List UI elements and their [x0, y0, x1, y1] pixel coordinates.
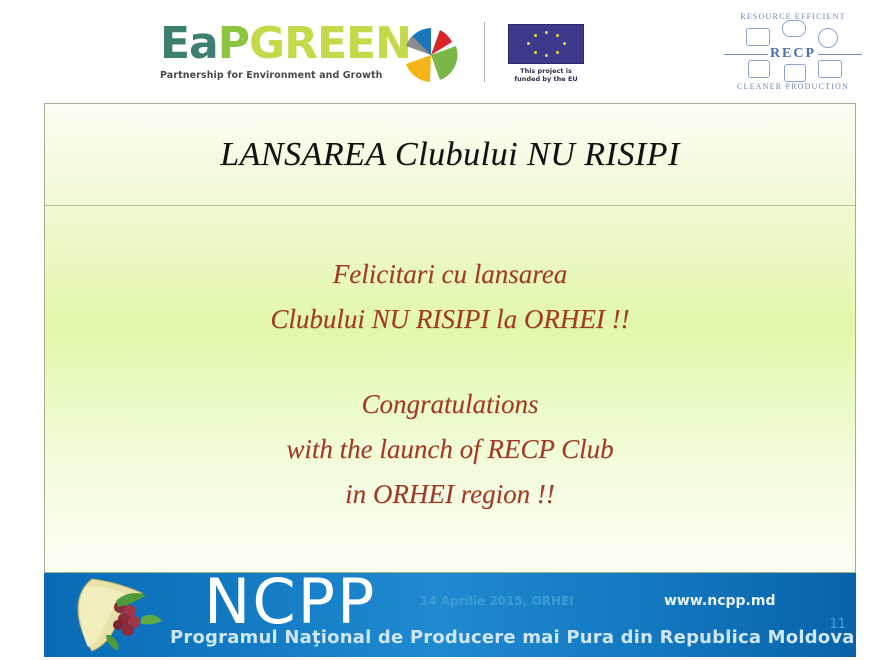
recp-icon-scales [746, 28, 770, 46]
eu-funding-caption: This project is funded by the EU [508, 67, 584, 83]
slide-title-band: LANSAREA Clubului NU RISIPI [45, 104, 855, 206]
recp-icon-recycle [784, 64, 806, 82]
slide-content-box: LANSAREA Clubului NU RISIPI Felicitari c… [44, 103, 856, 573]
eapgreen-word-ea: Ea [160, 18, 218, 69]
eapgreen-word-p: P [218, 18, 249, 69]
moldova-grapes-logo [58, 577, 170, 655]
header-divider [484, 22, 485, 82]
message-line-en-1: Congratulations [45, 382, 855, 427]
eapgreen-wordmark: EaPGREEN [160, 20, 395, 68]
event-date-location: 14 Aprilie 2015, ORHEI [420, 594, 574, 608]
ncpp-tagline: Programul Naţional de Producere mai Pura… [170, 627, 855, 648]
message-spacer [45, 342, 855, 382]
message-line-ro-2: Clubului NU RISIPI la ORHEI !! [45, 297, 855, 342]
message-line-ro-1: Felicitari cu lansarea [45, 252, 855, 297]
recp-icon-energy [818, 60, 842, 78]
recp-center-label: RECP [718, 46, 868, 62]
recp-logo: RESOURCE EFFICIENT RECP CLEANER PRODUCTI… [718, 6, 868, 98]
page-number: 11 [829, 617, 846, 632]
message-line-en-3: in ORHEI region !! [45, 472, 855, 517]
recp-icon-gauge [818, 28, 838, 48]
eu-funding-block: This project is funded by the EU [508, 24, 588, 83]
recp-arc-bottom-text: CLEANER PRODUCTION [718, 82, 868, 91]
eu-flag [508, 24, 584, 64]
page-title: LANSAREA Clubului NU RISIPI [220, 136, 680, 174]
website-url[interactable]: www.ncpp.md [664, 593, 775, 609]
eapgreen-word-green: GREEN [249, 18, 411, 69]
slide-body: Felicitari cu lansarea Clubului NU RISIP… [45, 207, 855, 573]
header-logo-bar: EaPGREEN Partnership for Environment and… [0, 0, 880, 100]
message-line-en-2: with the launch of RECP Club [45, 427, 855, 472]
eapgreen-logo: EaPGREEN Partnership for Environment and… [160, 20, 395, 88]
recp-icon-factory [782, 20, 806, 37]
recp-icon-water [748, 60, 770, 78]
eapgreen-tagline: Partnership for Environment and Growth [160, 70, 395, 81]
footer-banner: NCPP Programul Naţional de Producere mai… [44, 573, 856, 657]
eapgreen-circle-emblem [400, 24, 462, 86]
ncpp-acronym: NCPP [204, 573, 376, 635]
